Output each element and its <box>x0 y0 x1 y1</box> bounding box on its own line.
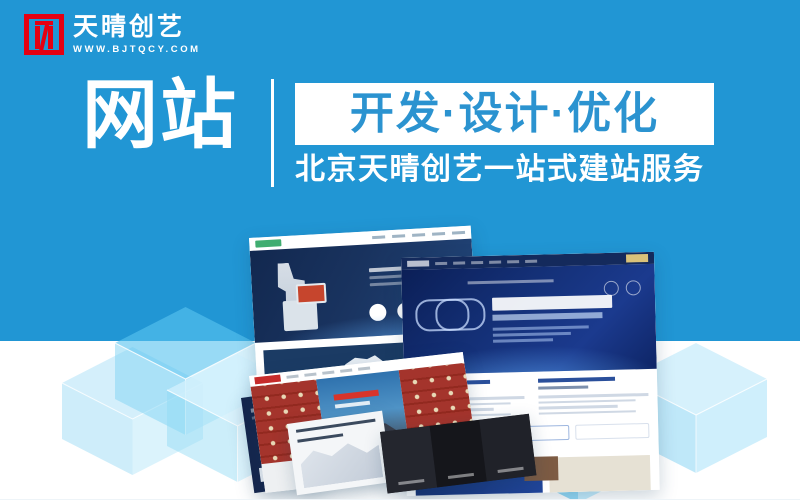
mockup-white-brochure[interactable] <box>287 411 392 496</box>
promo-banner: 天晴创艺 WWW.BJTQCY.COM 网站 开发·设计·优化 北京天晴创艺一站… <box>0 0 800 500</box>
website-showcase <box>0 0 800 500</box>
